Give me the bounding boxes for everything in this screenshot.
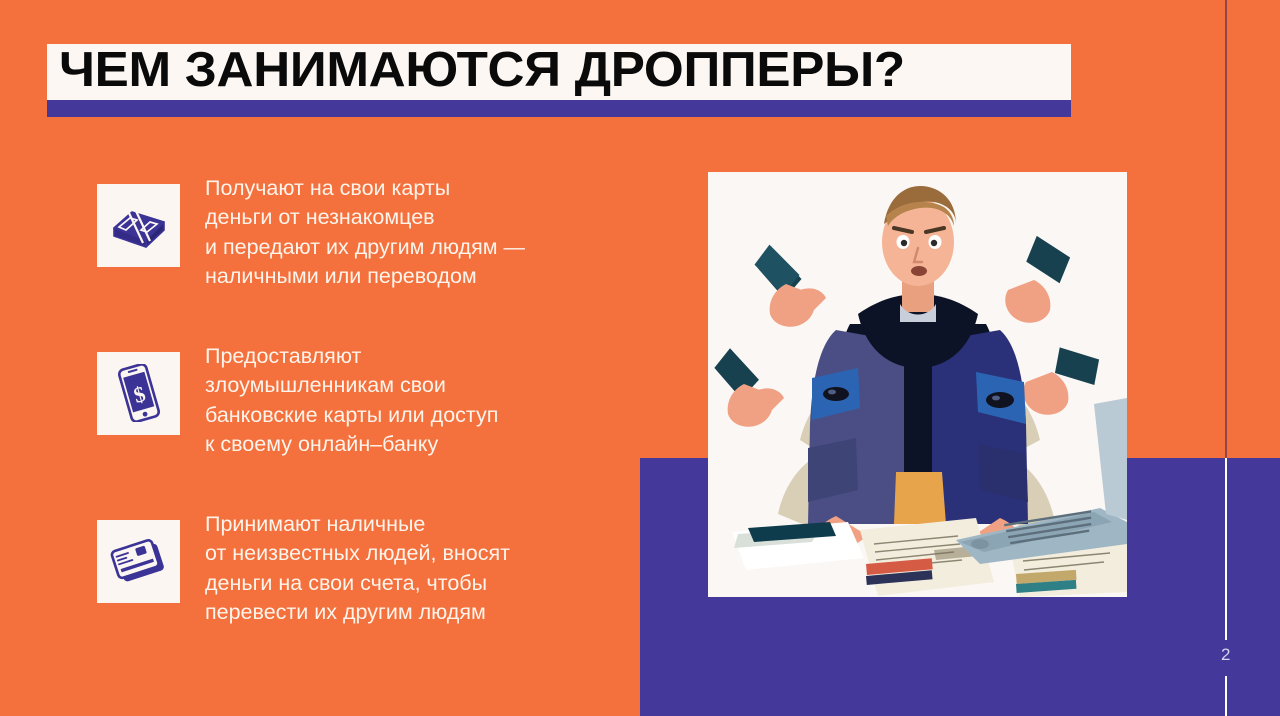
list-item: Принимают наличные от неизвестных людей,… [97,508,617,628]
slide: 2 ЧЕМ ЗАНИМАЮТСЯ ДРОППЕРЫ? [0,0,1280,716]
title-block: ЧЕМ ЗАНИМАЮТСЯ ДРОППЕРЫ? [47,44,1071,117]
page-number: 2 [1208,645,1244,665]
list-item-label: Принимают наличные от неизвестных людей,… [205,508,510,628]
right-vertical-rule-top [1225,0,1227,458]
page-title: ЧЕМ ЗАНИМАЮТСЯ ДРОППЕРЫ? [59,46,1106,96]
phone-dollar-icon: $ [97,352,180,435]
right-vertical-rule-bottom [1225,676,1227,716]
list-item-label: Получают на свои карты деньги от незнако… [205,172,525,292]
right-vertical-rule-middle [1225,458,1227,640]
title-underbar [47,100,1071,117]
title-band: ЧЕМ ЗАНИМАЮТСЯ ДРОППЕРЫ? [47,44,1071,100]
illustration-panel [708,172,1127,597]
money-stack-icon [97,184,180,267]
bullet-list: Получают на свои карты деньги от незнако… [97,172,617,627]
list-item-label: Предоставляют злоумышленникам свои банко… [205,340,498,460]
bank-cards-icon [97,520,180,603]
list-item: $ Предоставляют злоумышленникам свои бан… [97,340,617,460]
list-item: Получают на свои карты деньги от незнако… [97,172,617,292]
